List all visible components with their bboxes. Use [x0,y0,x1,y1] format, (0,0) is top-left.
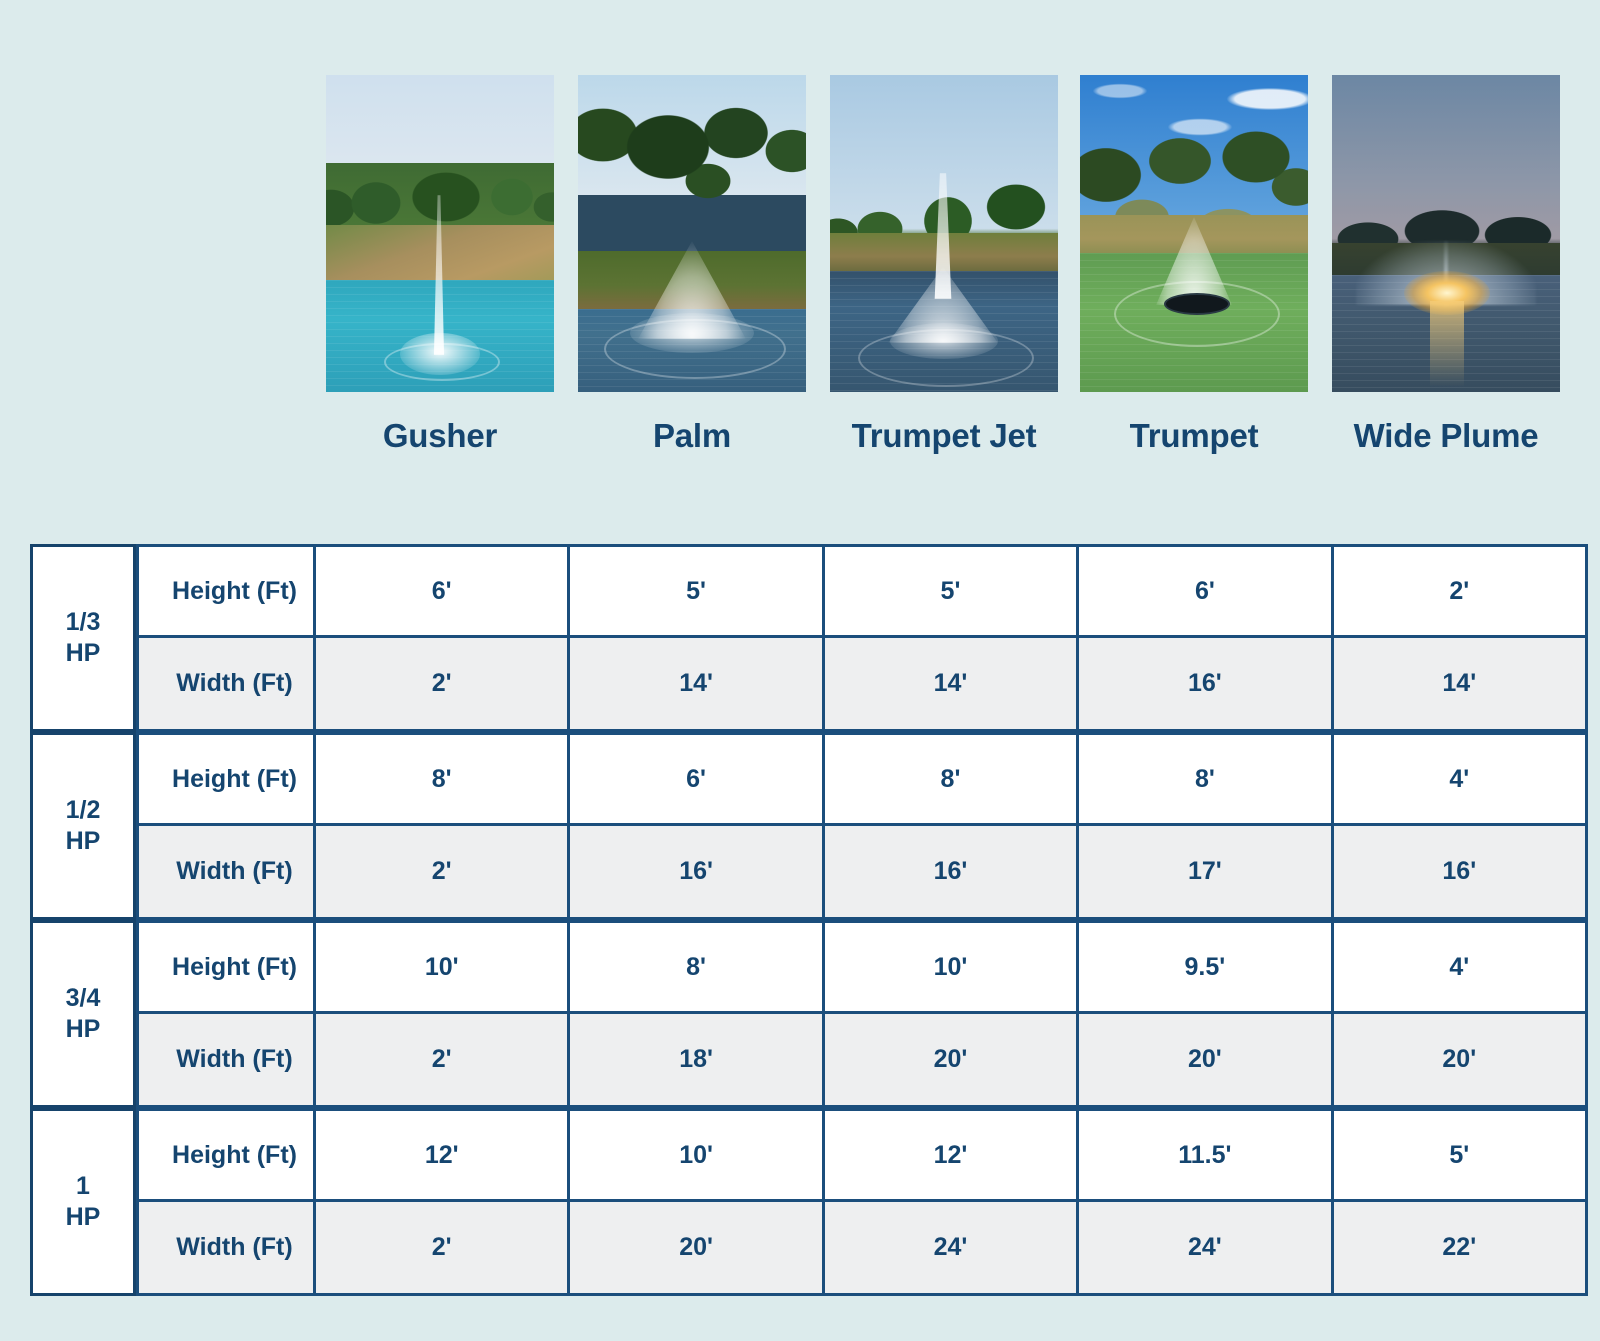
cell-width-gusher: 2' [316,638,570,732]
cell-width-wide-plume: 22' [1334,1202,1588,1296]
cell-height-gusher: 10' [316,920,570,1014]
cell-width-wide-plume: 16' [1334,826,1588,920]
fountain-photo-trumpet [1080,75,1308,392]
cell-width-palm: 16' [570,826,824,920]
metric-label-width: Width (Ft) [136,1014,316,1108]
cell-width-trumpet-jet: 14' [825,638,1079,732]
cell-height-gusher: 8' [316,732,570,826]
table-row: 1 HP Height (Ft) 12' 10' 12' 11.5' 5' [30,1108,1588,1202]
fountain-card-trumpet-jet[interactable]: Trumpet Jet [830,75,1058,392]
cell-width-trumpet-jet: 24' [825,1202,1079,1296]
cell-height-palm: 8' [570,920,824,1014]
fountain-gallery: Gusher Palm Tru [0,0,1600,500]
fountain-card-gusher[interactable]: Gusher [326,75,554,392]
table-row: Width (Ft) 2' 20' 24' 24' 22' [30,1202,1588,1296]
metric-label-height: Height (Ft) [136,920,316,1014]
table-row: Width (Ft) 2' 14' 14' 16' 14' [30,638,1588,732]
metric-label-width: Width (Ft) [136,1202,316,1296]
table-row: Width (Ft) 2' 16' 16' 17' 16' [30,826,1588,920]
fountain-card-trumpet[interactable]: Trumpet [1080,75,1308,392]
cell-height-wide-plume: 5' [1334,1108,1588,1202]
fountain-card-palm[interactable]: Palm [578,75,806,392]
cell-width-trumpet: 24' [1079,1202,1333,1296]
cell-width-trumpet-jet: 20' [825,1014,1079,1108]
cell-width-trumpet-jet: 16' [825,826,1079,920]
fountain-photo-gusher [326,75,554,392]
metric-label-height: Height (Ft) [136,1108,316,1202]
surface-ring [604,319,786,379]
metric-label-width: Width (Ft) [136,826,316,920]
fountain-photo-palm [578,75,806,392]
cell-height-trumpet: 9.5' [1079,920,1333,1014]
hp-value: 1 [76,1172,90,1200]
hp-unit: HP [66,827,101,855]
cell-width-wide-plume: 20' [1334,1014,1588,1108]
cell-width-wide-plume: 14' [1334,638,1588,732]
hp-label-cell: 3/4 HP [30,920,136,1108]
cell-width-palm: 18' [570,1014,824,1108]
cell-height-wide-plume: 4' [1334,920,1588,1014]
hp-value: 1/2 [66,796,101,824]
surface-ring [1114,281,1280,347]
hp-unit: HP [66,1015,101,1043]
cell-height-wide-plume: 4' [1334,732,1588,826]
hp-unit: HP [66,639,101,667]
hp-value: 1/3 [66,608,101,636]
cell-height-trumpet: 6' [1079,544,1333,638]
hp-unit: HP [66,1203,101,1231]
cell-height-palm: 10' [570,1108,824,1202]
fountain-photo-wide-plume [1332,75,1560,392]
cell-height-trumpet-jet: 10' [825,920,1079,1014]
surface-ring [384,343,500,381]
cell-width-gusher: 2' [316,1202,570,1296]
cell-height-wide-plume: 2' [1334,544,1588,638]
cell-height-gusher: 12' [316,1108,570,1202]
table-row: 3/4 HP Height (Ft) 10' 8' 10' 9.5' 4' [30,920,1588,1014]
cell-height-palm: 6' [570,732,824,826]
cell-height-trumpet: 11.5' [1079,1108,1333,1202]
cell-width-trumpet: 16' [1079,638,1333,732]
table-row: Width (Ft) 2' 18' 20' 20' 20' [30,1014,1588,1108]
fountain-label-wide-plume: Wide Plume [1292,417,1600,455]
metric-label-width: Width (Ft) [136,638,316,732]
table-row: 1/2 HP Height (Ft) 8' 6' 8' 8' 4' [30,732,1588,826]
hp-label-cell: 1 HP [30,1108,136,1296]
hp-label-cell: 1/3 HP [30,544,136,732]
cell-width-trumpet: 20' [1079,1014,1333,1108]
cell-height-trumpet-jet: 5' [825,544,1079,638]
cell-width-palm: 20' [570,1202,824,1296]
spec-table-body: 1/3 HP Height (Ft) 6' 5' 5' 6' 2' Width … [30,544,1588,1296]
fountain-spec-table: 1/3 HP Height (Ft) 6' 5' 5' 6' 2' Width … [30,544,1588,1296]
cell-width-trumpet: 17' [1079,826,1333,920]
light-reflection [1430,301,1464,387]
surface-ring [858,329,1034,387]
metric-label-height: Height (Ft) [136,544,316,638]
cell-height-trumpet: 8' [1079,732,1333,826]
metric-label-height: Height (Ft) [136,732,316,826]
table-row: 1/3 HP Height (Ft) 6' 5' 5' 6' 2' [30,544,1588,638]
cell-height-palm: 5' [570,544,824,638]
cell-height-trumpet-jet: 12' [825,1108,1079,1202]
hp-label-cell: 1/2 HP [30,732,136,920]
cell-width-palm: 14' [570,638,824,732]
hp-value: 3/4 [66,984,101,1012]
fountain-card-wide-plume[interactable]: Wide Plume [1332,75,1560,392]
cell-height-trumpet-jet: 8' [825,732,1079,826]
cell-width-gusher: 2' [316,826,570,920]
fountain-photo-trumpet-jet [830,75,1058,392]
cell-height-gusher: 6' [316,544,570,638]
cell-width-gusher: 2' [316,1014,570,1108]
